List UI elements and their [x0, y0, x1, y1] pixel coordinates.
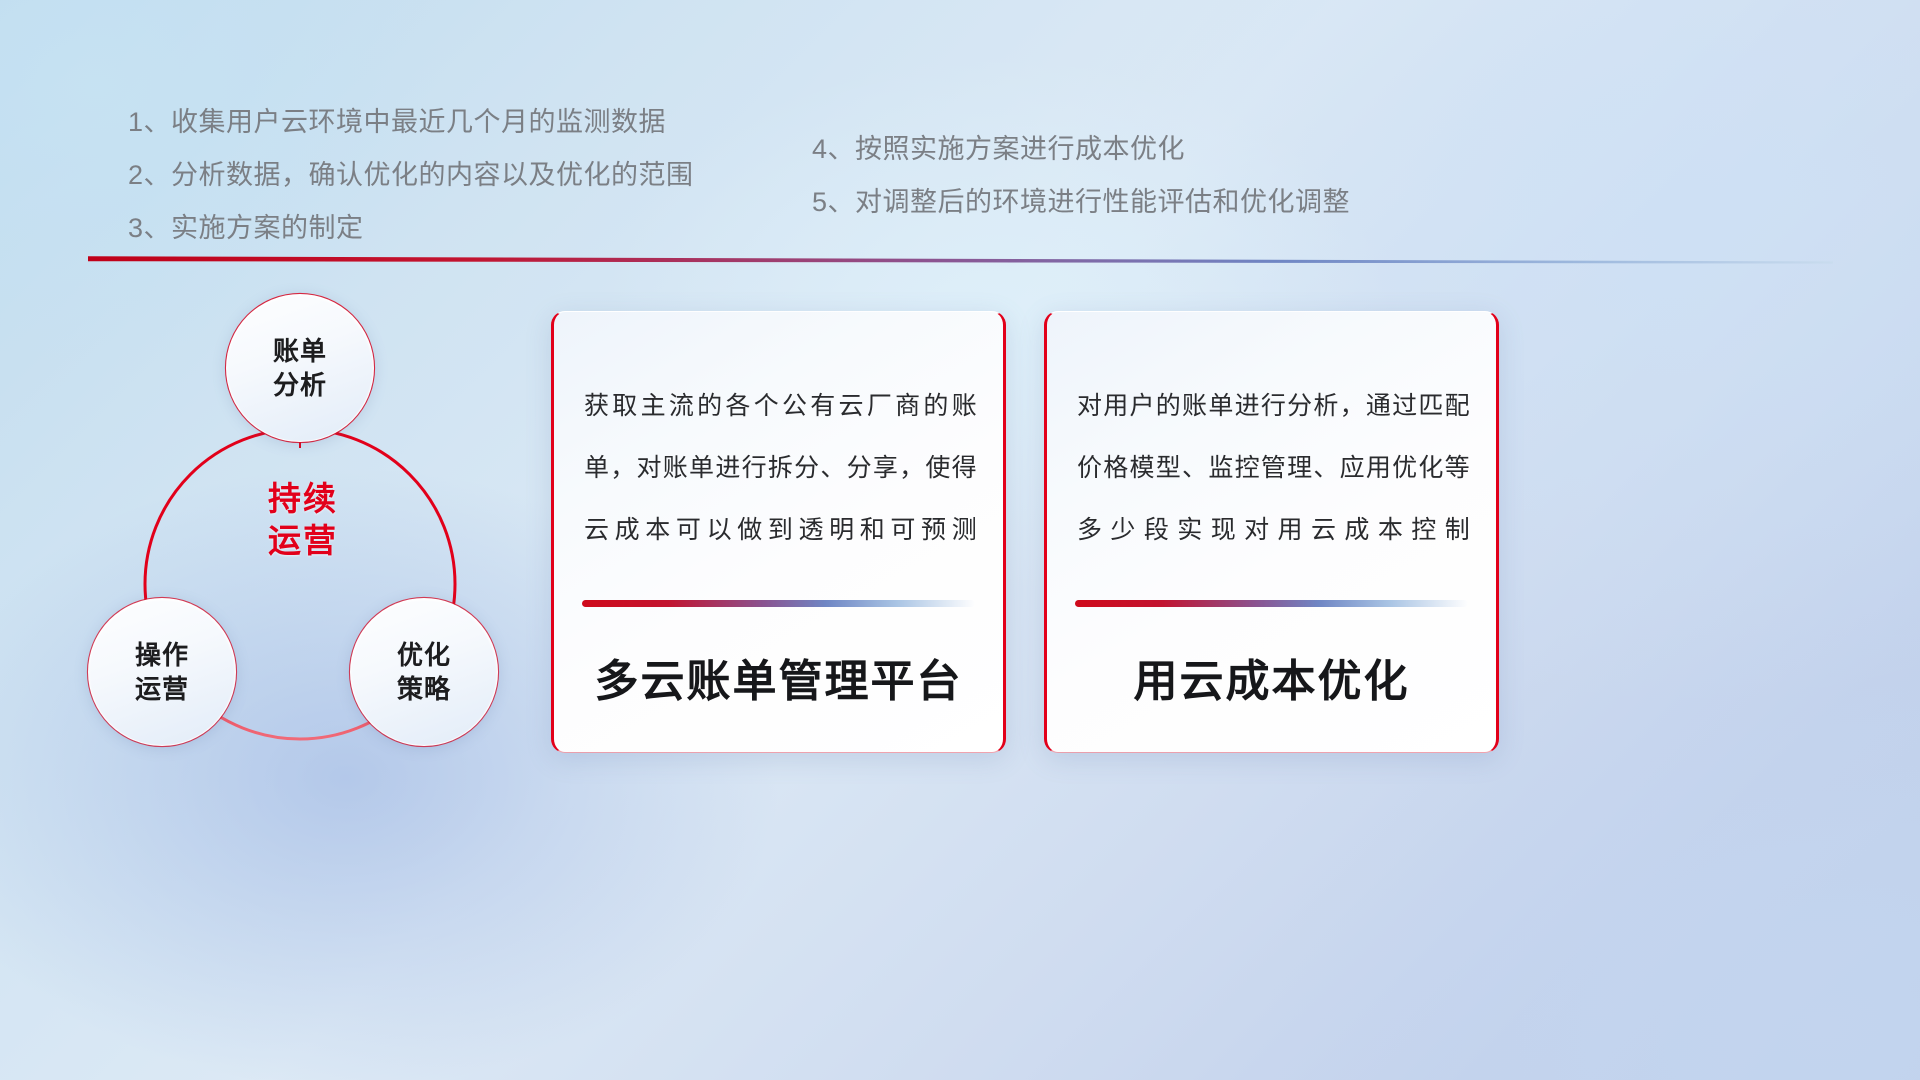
- node-label-line-2: 分析: [273, 368, 327, 402]
- card-accent-rule: [582, 600, 975, 607]
- steps-left-column: 1、收集用户云环境中最近几个月的监测数据 2、分析数据，确认优化的内容以及优化的…: [128, 96, 694, 255]
- card-body-text: 获取主流的各个公有云厂商的账单，对账单进行拆分、分享，使得云成本可以做到透明和可…: [584, 375, 977, 561]
- node-label-line-1: 账单: [273, 334, 327, 368]
- node-label-line-1: 操作: [135, 638, 189, 672]
- card-title: 多云账单管理平台: [554, 645, 1003, 709]
- diagram-node-bill-analysis[interactable]: 账单 分析: [226, 294, 374, 442]
- center-label-line-1: 持续: [233, 478, 373, 520]
- continuous-operation-diagram: 账单 分析 操作 运营 优化 策略 持续 运营: [78, 288, 528, 768]
- slide-canvas: 1、收集用户云环境中最近几个月的监测数据 2、分析数据，确认优化的内容以及优化的…: [0, 0, 1920, 1080]
- feature-card-cost-optimization[interactable]: 对用户的账单进行分析，通过匹配价格模型、监控管理、应用优化等多少段实现对用云成本…: [1044, 311, 1499, 753]
- card-accent-rule: [1075, 600, 1468, 607]
- card-body-text: 对用户的账单进行分析，通过匹配价格模型、监控管理、应用优化等多少段实现对用云成本…: [1077, 375, 1470, 561]
- node-label-line-2: 运营: [135, 672, 189, 706]
- card-title: 用云成本优化: [1047, 645, 1496, 709]
- section-divider: [88, 255, 1833, 264]
- feature-card-multicloud-billing[interactable]: 获取主流的各个公有云厂商的账单，对账单进行拆分、分享，使得云成本可以做到透明和可…: [551, 311, 1006, 753]
- diagram-node-operations[interactable]: 操作 运营: [88, 598, 236, 746]
- node-label-line-2: 策略: [397, 672, 451, 706]
- step-item-4: 4、按照实施方案进行成本优化: [812, 123, 1350, 176]
- center-label-line-2: 运营: [233, 520, 373, 562]
- step-item-2: 2、分析数据，确认优化的内容以及优化的范围: [128, 149, 694, 202]
- step-item-5: 5、对调整后的环境进行性能评估和优化调整: [812, 176, 1350, 229]
- step-item-3: 3、实施方案的制定: [128, 202, 694, 255]
- node-label-line-1: 优化: [397, 638, 451, 672]
- diagram-node-optimization-strategy[interactable]: 优化 策略: [350, 598, 498, 746]
- diagram-center-label: 持续 运营: [233, 478, 373, 562]
- steps-right-column: 4、按照实施方案进行成本优化 5、对调整后的环境进行性能评估和优化调整: [812, 123, 1350, 229]
- step-item-1: 1、收集用户云环境中最近几个月的监测数据: [128, 96, 694, 149]
